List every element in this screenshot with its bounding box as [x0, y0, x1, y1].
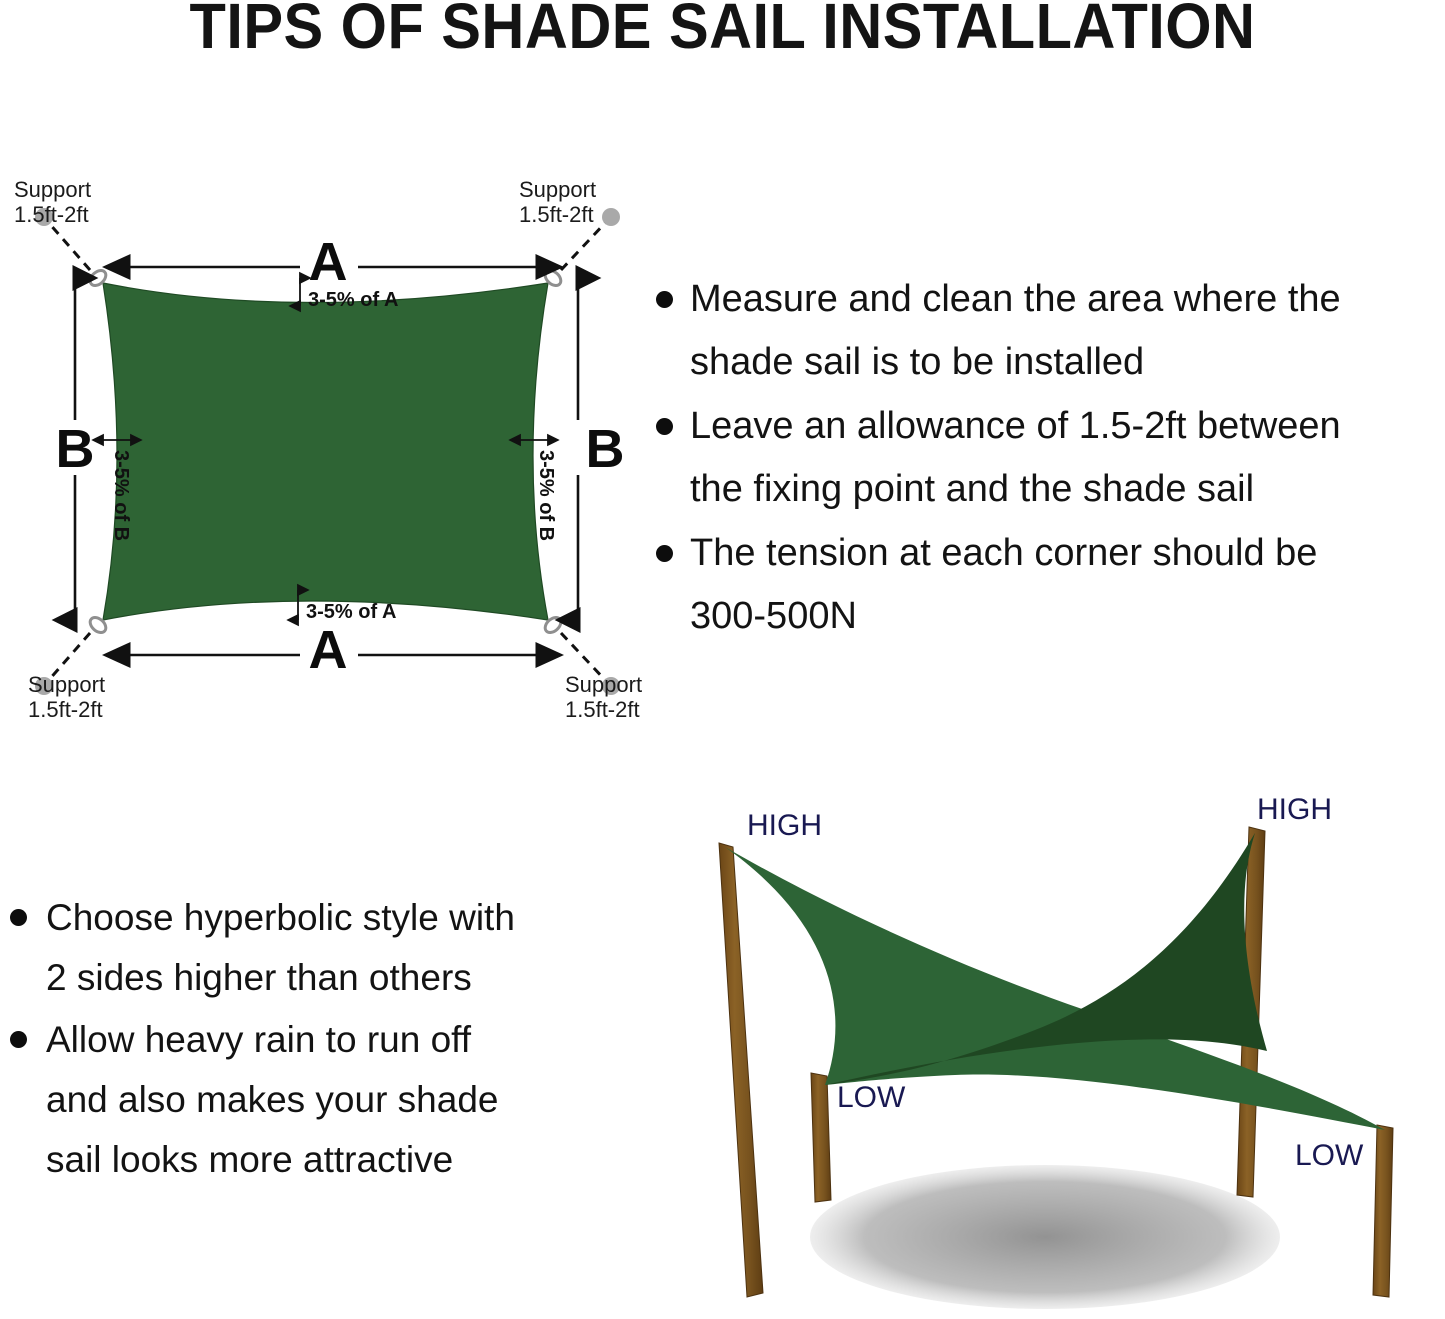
- hyperbolic-style-list: Choose hyperbolic style with 2 sides hig…: [0, 888, 630, 1192]
- bullet-dot-icon: [656, 545, 673, 562]
- infographic-page: TIPS OF SHADE SAIL INSTALLATION: [0, 0, 1445, 1319]
- bullet-dot-icon: [656, 418, 673, 435]
- curve-callout-right-label: 3-5% of B: [535, 450, 557, 541]
- tip-line: the fixing point and the shade sail: [690, 468, 1254, 510]
- dimension-arrow-bottom-a: A: [128, 620, 538, 680]
- support-label-bottom-left: Support 1.5ft-2ft: [28, 672, 105, 722]
- list-item: Allow heavy rain to run off and also mak…: [0, 1010, 630, 1190]
- support-label-line1: Support: [519, 177, 596, 202]
- support-label-line2: 1.5ft-2ft: [565, 697, 640, 722]
- tip-line: Measure and clean the area where the: [690, 278, 1341, 320]
- tip-line: The tension at each corner should be: [690, 532, 1317, 574]
- dimension-label-right-b: B: [586, 419, 625, 479]
- support-label-line2: 1.5ft-2ft: [28, 697, 103, 722]
- style-line: 2 sides higher than others: [46, 957, 472, 998]
- dimension-label-left-b: B: [56, 419, 95, 479]
- support-label-bottom-right: Support 1.5ft-2ft: [565, 672, 642, 722]
- tip-line: 300-500N: [690, 595, 857, 637]
- ground-shadow: [810, 1165, 1280, 1309]
- support-label-line2: 1.5ft-2ft: [14, 202, 89, 227]
- dimension-label-top-a: A: [309, 232, 348, 292]
- list-item: The tension at each corner should be 300…: [648, 522, 1445, 648]
- list-item: Choose hyperbolic style with 2 sides hig…: [0, 888, 630, 1008]
- bullet-dot-icon: [10, 909, 27, 926]
- pole-low-right: [1373, 1125, 1393, 1297]
- rectangular-sail-diagram: Support 1.5ft-2ft Support 1.5ft-2ft Supp…: [0, 150, 660, 730]
- curve-callout-left-label: 3-5% of B: [110, 450, 132, 541]
- support-label-line1: Support: [28, 672, 105, 697]
- label-low-left: LOW: [837, 1081, 906, 1114]
- support-label-line1: Support: [14, 177, 91, 202]
- style-line: Choose hyperbolic style with: [46, 897, 515, 938]
- pole-high-left: [719, 843, 763, 1297]
- hyperbolic-sail-diagram: HIGH HIGH LOW LOW: [655, 785, 1445, 1319]
- style-line: and also makes your shade: [46, 1079, 499, 1120]
- tip-line: shade sail is to be installed: [690, 341, 1144, 383]
- style-line: sail looks more attractive: [46, 1139, 453, 1180]
- bullet-dot-icon: [656, 291, 673, 308]
- curve-callout-left: 3-5% of B: [103, 440, 132, 541]
- style-line: Allow heavy rain to run off: [46, 1019, 471, 1060]
- dimension-arrow-left-b: B: [56, 278, 95, 620]
- support-label-top-right: Support 1.5ft-2ft: [519, 177, 596, 227]
- dimension-arrow-top-a: A: [128, 232, 538, 292]
- label-low-right: LOW: [1295, 1139, 1364, 1172]
- dimension-label-bottom-a: A: [309, 620, 348, 680]
- pole-low-left: [811, 1073, 831, 1202]
- bullet-dot-icon: [10, 1031, 27, 1048]
- support-dot-top-right: [602, 208, 620, 226]
- curve-callout-top-label: 3-5% of A: [308, 289, 398, 311]
- page-title: TIPS OF SHADE SAIL INSTALLATION: [51, 0, 1395, 58]
- list-item: Leave an allowance of 1.5-2ft between th…: [648, 395, 1445, 521]
- curve-callout-bottom-label: 3-5% of A: [306, 601, 396, 623]
- support-label-line1: Support: [565, 672, 642, 697]
- support-label-line2: 1.5ft-2ft: [519, 202, 594, 227]
- support-label-top-left: Support 1.5ft-2ft: [14, 177, 91, 227]
- shade-sail-shape: [103, 283, 548, 620]
- installation-tips-list: Measure and clean the area where the sha…: [648, 268, 1445, 649]
- tip-line: Leave an allowance of 1.5-2ft between: [690, 405, 1341, 447]
- label-high-left: HIGH: [747, 809, 822, 842]
- list-item: Measure and clean the area where the sha…: [648, 268, 1445, 394]
- dimension-arrow-right-b: B: [578, 278, 625, 620]
- label-high-right: HIGH: [1257, 793, 1332, 826]
